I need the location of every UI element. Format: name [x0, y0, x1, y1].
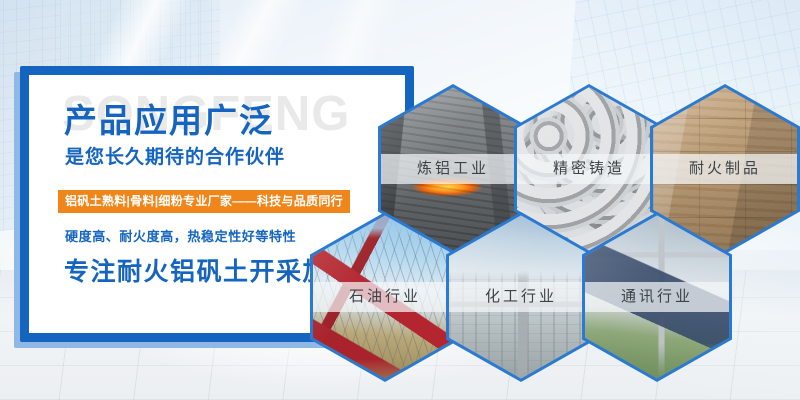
hex-label: 化工行业 — [449, 282, 593, 312]
hex-label: 耐火制品 — [653, 154, 797, 184]
hex-label: 石油行业 — [313, 282, 457, 312]
hex-label: 精密铸造 — [517, 154, 661, 184]
hex-label: 炼铝工业 — [381, 154, 525, 184]
industry-hexagon-grid: 炼铝工业 精密铸造 耐火制品 石油行业 — [0, 0, 800, 400]
hex-label: 通讯行业 — [585, 282, 729, 312]
promotional-banner: SONGFENG 产品应用广泛 是您长久期待的合作伙伴 铝矾土熟料|骨料|细粉专… — [0, 0, 800, 400]
